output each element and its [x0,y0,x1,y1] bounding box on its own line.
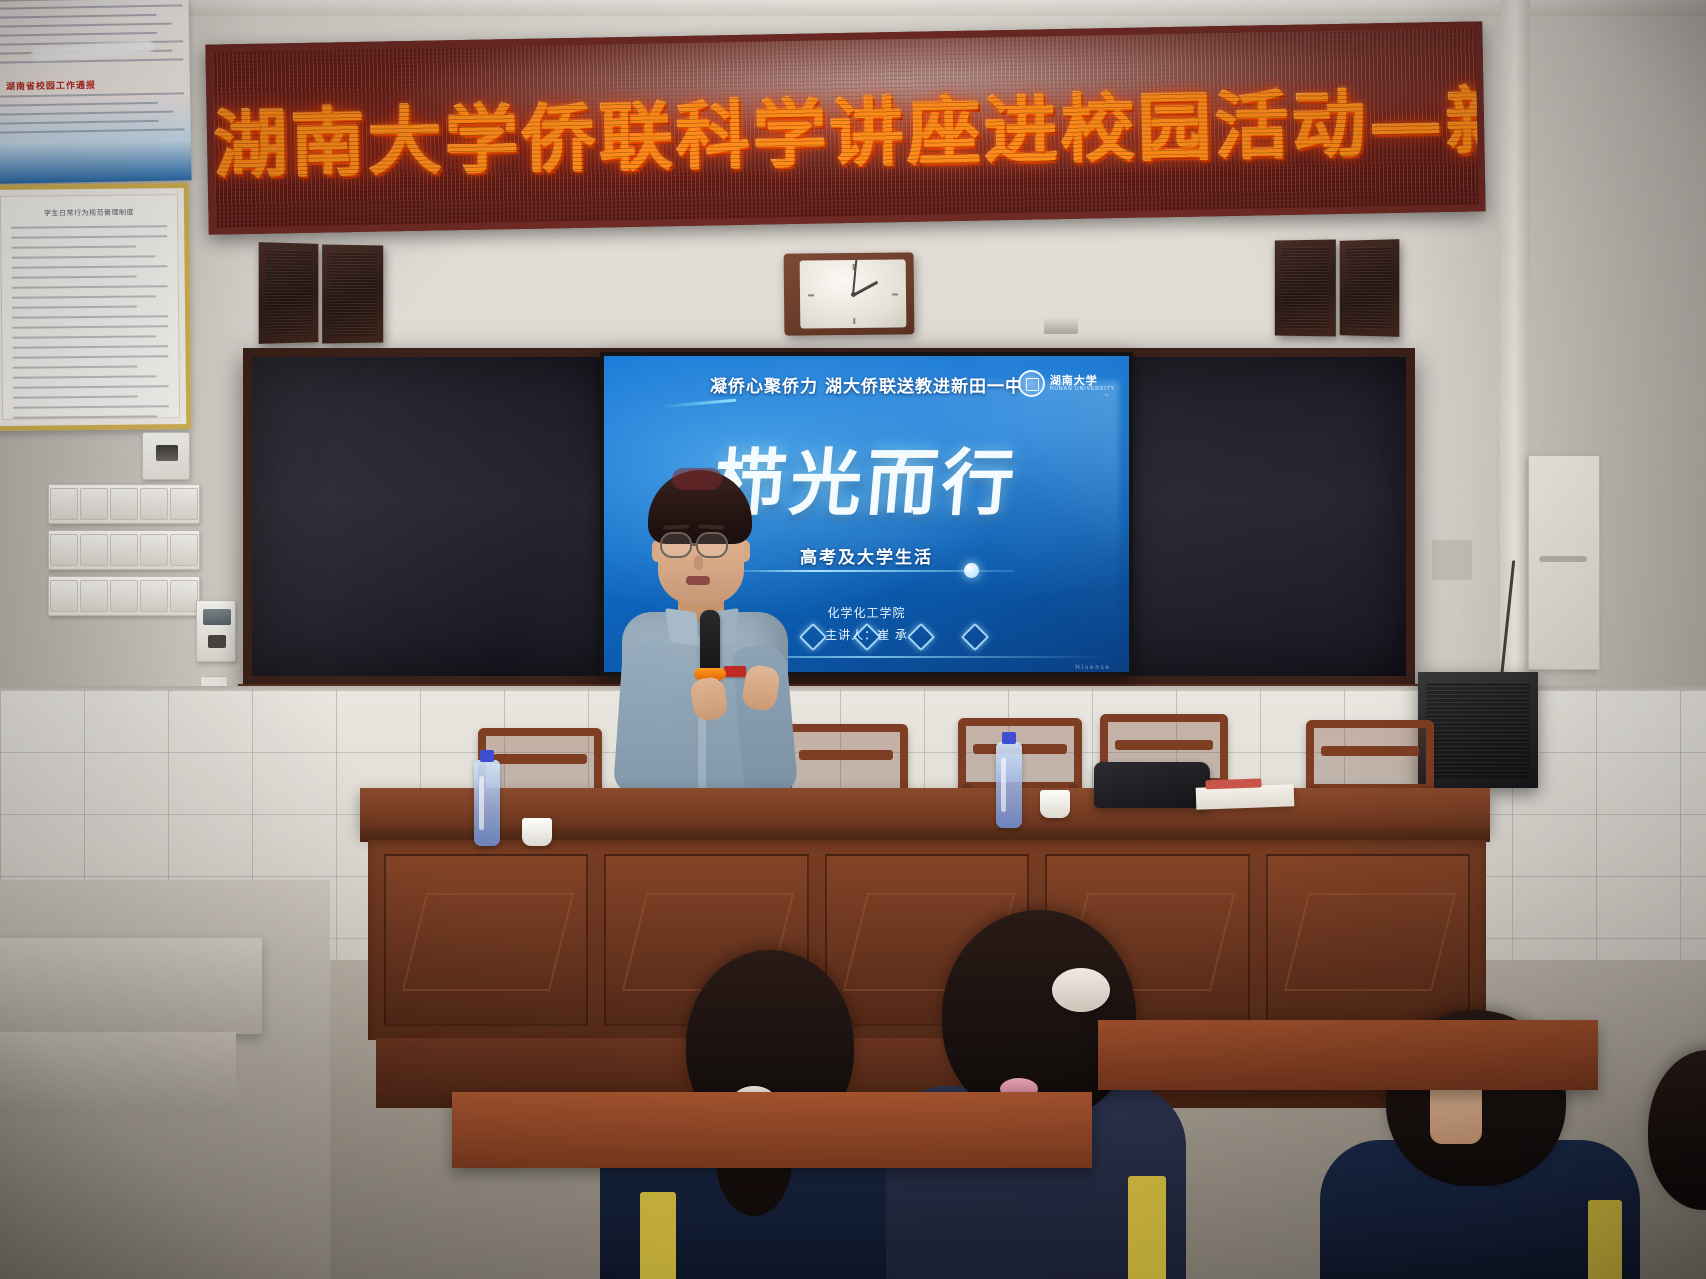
uniform-stripe [1128,1176,1166,1279]
university-seal-icon [1018,370,1045,397]
uniform-stripe [1588,1200,1622,1279]
student-desk [452,1092,1092,1168]
document-text-lines [11,225,169,427]
wall-framed-document: 学生日常行为规范管理制度 [0,183,191,431]
av-equipment-rack [1418,672,1538,788]
light-switch[interactable] [80,488,108,520]
presenter-badge [724,666,746,677]
glasses-lens-right [696,532,728,558]
projector-mount [1044,318,1078,334]
hunan-university-logo: 湖南大学 HUNAN UNIVERSITY [1018,370,1115,397]
student-head [1648,1050,1706,1210]
poster-text-lines [0,4,184,70]
wall-speaker-right-2 [1340,239,1400,337]
water-bottle[interactable] [996,742,1022,828]
light-switch[interactable] [110,534,138,566]
logo-text-en: HUNAN UNIVERSITY [1050,387,1115,393]
light-switch[interactable] [50,488,78,520]
framed-document-sheet: 学生日常行为规范管理制度 [0,194,180,420]
wall-speaker-left-2 [322,244,383,343]
clock-face [800,259,907,328]
presenter-arm-left [613,644,677,795]
light-switch[interactable] [170,580,198,612]
light-switch[interactable] [140,580,168,612]
black-bag[interactable] [1094,762,1210,808]
light-switch[interactable] [170,488,198,520]
wall-speaker-left-1 [259,242,319,344]
wall-cabinet-right [1528,455,1600,670]
tv-brand-label: Hisense [1075,665,1111,671]
wall-socket-box[interactable] [142,432,190,480]
diamond-icon [852,623,880,651]
electrical-breaker-box[interactable] [196,600,236,662]
water-bottle[interactable] [474,760,500,846]
lecture-hall-photo: 湖南省校园工作通报 学生日常行为规范管理制度 [0,0,1706,1279]
presenter-nose [694,556,703,570]
glasses-lens-left [660,532,692,558]
light-switch[interactable] [80,534,108,566]
diamond-icon [960,623,988,651]
presenter-hair [648,470,752,544]
light-switch[interactable] [110,580,138,612]
presenter-mouth [686,576,710,585]
wall-fixture [1432,540,1472,580]
light-switch-row-3[interactable] [48,576,200,616]
light-switch-row-2[interactable] [48,530,200,570]
led-banner: 湖南大学侨联科学讲座进校园活动—新田一中站 [205,21,1485,234]
wall-clock [784,252,915,335]
uniform-stripe [640,1192,676,1279]
hair-bun-tie [1052,968,1110,1012]
wall-poster-notice: 湖南省校园工作通报 [0,0,192,184]
light-switch[interactable] [140,534,168,566]
student-desk [1098,1020,1598,1090]
wall-speaker-right-1 [1275,239,1336,336]
glasses-bridge [692,543,698,546]
wall-pillar-right [1500,0,1530,700]
logo-text-cn: 湖南大学 [1050,375,1115,387]
light-switch[interactable] [50,534,78,566]
light-switch-row-1[interactable] [48,484,200,524]
presenter-collar-left [665,608,701,646]
light-switch[interactable] [170,534,198,566]
poster-heading: 湖南省校园工作通报 [6,78,96,93]
clock-hour-hand [852,281,878,297]
light-switch[interactable] [80,580,108,612]
clock-center-pin [850,291,855,296]
light-switch[interactable] [110,488,138,520]
document-stack[interactable] [1196,784,1295,809]
light-switch[interactable] [50,580,78,612]
slide-decoration-dot [964,563,979,578]
light-switch[interactable] [140,488,168,520]
poster-text-lines-lower [0,92,185,140]
document-title: 学生日常行为规范管理制度 [1,207,177,219]
paper-cup[interactable] [522,818,552,846]
paper-cup[interactable] [1040,790,1070,818]
diamond-icon [906,623,934,651]
